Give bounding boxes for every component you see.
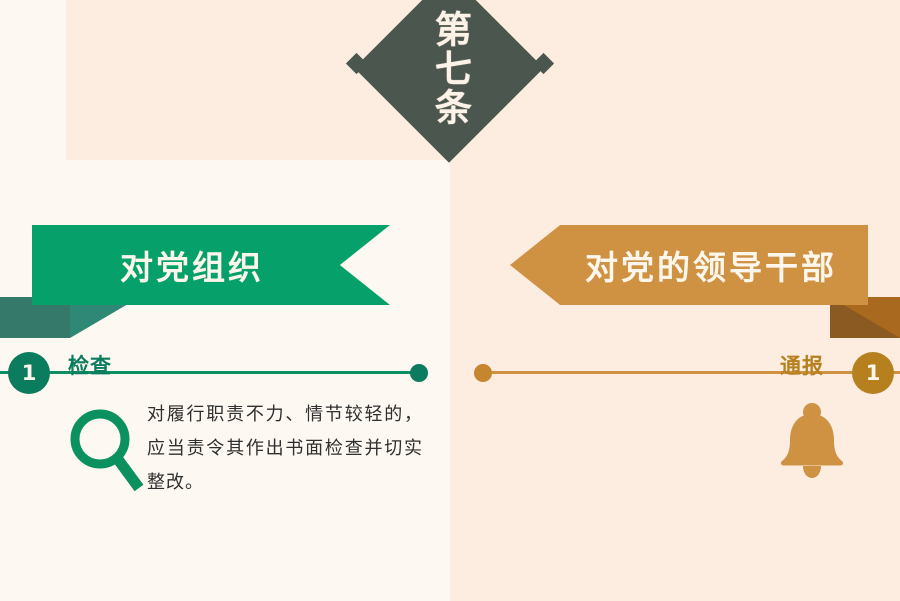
article-emblem: 第七条 bbox=[330, 0, 570, 153]
timeline-end-dot-left bbox=[410, 364, 428, 382]
article-label-wrap: 第七条 bbox=[330, 0, 570, 143]
badge-number-right: 1 bbox=[852, 352, 894, 394]
bell-icon bbox=[772, 400, 852, 488]
section-heading-left: 检查 bbox=[68, 350, 112, 380]
banner-label-left: 对党组织 bbox=[120, 241, 264, 289]
body-text-left: 对履行职责不力、情节较轻的，应当责令其作出书面检查并切实整改。 bbox=[147, 398, 423, 500]
timeline-rule-right bbox=[478, 371, 900, 374]
infographic-poster: 第七条 问责方式 对党组织 1 检查 对履行职责不力、情节较轻的，应当责令其作出… bbox=[0, 0, 900, 601]
article-label: 第七条 bbox=[431, 10, 470, 127]
banner-party-organization: 对党组织 bbox=[32, 225, 390, 305]
banner-party-leading-cadres: 对党的领导干部 bbox=[510, 225, 868, 305]
timeline-end-dot-right bbox=[474, 364, 492, 382]
badge-number-left: 1 bbox=[8, 352, 50, 394]
section-heading-right: 通报 bbox=[780, 350, 824, 380]
timeline-rule-left bbox=[0, 371, 424, 374]
banner-label-right: 对党的领导干部 bbox=[585, 241, 837, 289]
title-band: 问责方式 bbox=[0, 160, 900, 201]
magnifier-icon bbox=[68, 405, 148, 495]
